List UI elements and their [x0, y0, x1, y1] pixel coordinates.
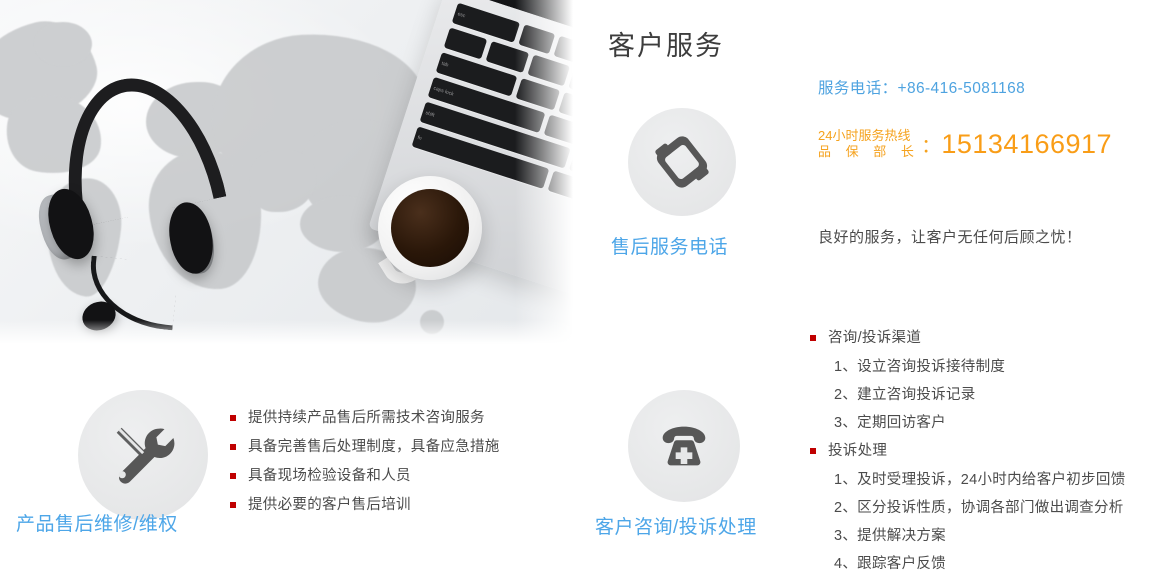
desk-phone-medical-cross-icon — [628, 390, 740, 502]
service-tagline: 良好的服务，让客户无任何后顾之忧！ — [818, 226, 1082, 247]
consult-complaint-icon-circle — [628, 390, 740, 502]
list-item-text: 具备现场检验设备和人员 — [248, 462, 411, 491]
list-item-text: 投诉处理 — [828, 437, 887, 466]
list-item-text: 具备完善售后处理制度，具备应急措施 — [248, 433, 500, 462]
hotline-number: 15134166917 — [941, 129, 1112, 159]
list-item-text: 3、提供解决方案 — [834, 522, 946, 550]
bullet-square-icon — [230, 444, 236, 450]
list-item-text: 提供必要的客户售后培训 — [248, 491, 411, 520]
list-item: 3、提供解决方案 — [810, 522, 1126, 550]
list-item: 2、区分投诉性质，协调各部门做出调查分析 — [810, 494, 1126, 522]
consult-complaint-label: 客户咨询/投诉处理 — [595, 512, 757, 539]
list-item-text: 4、跟踪客户反馈 — [834, 550, 946, 575]
product-repair-list: 提供持续产品售后所需技术咨询服务 具备完善售后处理制度，具备应急措施 具备现场检… — [230, 404, 500, 520]
hotline-block: 24小时服务热线 品 保 部 长 ： 15134166917 — [818, 128, 1112, 160]
list-item-text: 提供持续产品售后所需技术咨询服务 — [248, 404, 485, 433]
list-item: 2、建立咨询投诉记录 — [810, 381, 1126, 409]
consult-complaint-list: 咨询/投诉渠道 1、设立咨询投诉接待制度 2、建立咨询投诉记录 3、定期回访客户… — [810, 324, 1126, 575]
page-title: 客户服务 — [608, 24, 724, 63]
hero-bottom-fade — [0, 320, 581, 346]
service-phone-line: 服务电话：+86-416-5081168 — [818, 76, 1025, 98]
list-item-text: 2、建立咨询投诉记录 — [834, 381, 976, 409]
list-group-heading: 投诉处理 — [810, 437, 1126, 466]
headset-graphic — [44, 78, 244, 308]
after-sales-phone-label: 售后服务电话 — [611, 232, 728, 259]
list-item: 1、设立咨询投诉接待制度 — [810, 353, 1126, 381]
list-item-text: 2、区分投诉性质，协调各部门做出调查分析 — [834, 494, 1124, 522]
coffee-cup-graphic — [378, 176, 482, 280]
hotline-label-line1: 24小时服务热线 — [818, 128, 919, 144]
after-sales-phone-icon-circle — [628, 108, 736, 216]
customer-service-page: esc tab caps lock shift fn 客户服务 服务电话：+86… — [0, 0, 1174, 575]
list-item-text: 3、定期回访客户 — [834, 409, 946, 437]
wrench-screwdriver-icon — [78, 390, 208, 520]
hotline-colon: ： — [921, 131, 940, 158]
bullet-square-icon — [810, 335, 816, 341]
list-item: 4、跟踪客户反馈 — [810, 550, 1126, 575]
list-item-text: 1、设立咨询投诉接待制度 — [834, 353, 1005, 381]
bullet-square-icon — [230, 415, 236, 421]
telephone-handset-icon — [628, 108, 736, 216]
list-item: 1、及时受理投诉，24小时内给客户初步回馈 — [810, 466, 1126, 494]
list-item: 3、定期回访客户 — [810, 409, 1126, 437]
list-item-text: 1、及时受理投诉，24小时内给客户初步回馈 — [834, 466, 1126, 494]
list-item: 提供持续产品售后所需技术咨询服务 — [230, 404, 500, 433]
list-item: 提供必要的客户售后培训 — [230, 491, 500, 520]
hero-photo: esc tab caps lock shift fn — [0, 0, 581, 346]
list-item: 具备完善售后处理制度，具备应急措施 — [230, 433, 500, 462]
list-item-text: 咨询/投诉渠道 — [828, 324, 921, 353]
hero-right-fade — [515, 0, 581, 346]
bullet-square-icon — [810, 448, 816, 454]
hotline-label-line2: 品 保 部 长 — [818, 144, 919, 160]
bullet-square-icon — [230, 502, 236, 508]
product-repair-label: 产品售后维修/维权 — [16, 509, 178, 536]
bullet-square-icon — [230, 473, 236, 479]
list-item: 具备现场检验设备和人员 — [230, 462, 500, 491]
list-group-heading: 咨询/投诉渠道 — [810, 324, 1126, 353]
hotline-labels: 24小时服务热线 品 保 部 长 — [818, 128, 919, 160]
product-repair-icon-circle — [78, 390, 208, 520]
